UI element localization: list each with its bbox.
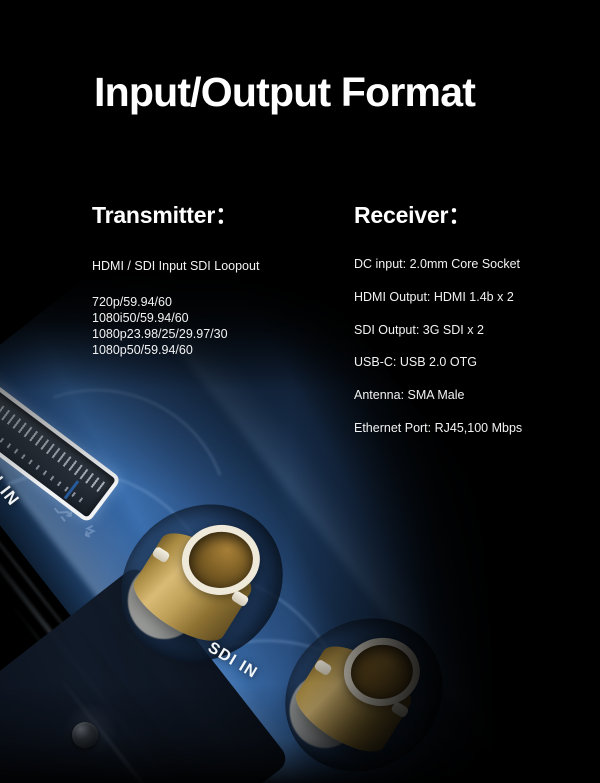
list-item: USB-C: USB 2.0 OTG	[354, 354, 574, 370]
list-item: 720p/59.94/60	[92, 294, 342, 310]
page-title: Input/Output Format	[94, 70, 475, 116]
receiver-spec-list: DC input: 2.0mm Core Socket HDMI Output:…	[354, 256, 574, 436]
list-item: DC input: 2.0mm Core Socket	[354, 256, 574, 272]
transmitter-intro-text: HDMI / SDI Input SDI Loopout	[92, 258, 342, 276]
content-layer: Input/Output Format Transmitter： HDMI / …	[0, 0, 600, 783]
transmitter-column: Transmitter： HDMI / SDI Input SDI Loopou…	[92, 196, 342, 358]
list-item: Ethernet Port: RJ45,100 Mbps	[354, 420, 574, 436]
list-item: 1080p23.98/25/29.97/30	[92, 326, 342, 342]
transmitter-heading: Transmitter：	[92, 196, 342, 230]
list-item: SDI Output: 3G SDI x 2	[354, 322, 574, 338]
transmitter-format-list: 720p/59.94/60 1080i50/59.94/60 1080p23.9…	[92, 294, 342, 358]
list-item: 1080i50/59.94/60	[92, 310, 342, 326]
receiver-heading: Receiver：	[354, 196, 574, 230]
list-item: Antenna: SMA Male	[354, 387, 574, 403]
list-item: 1080p50/59.94/60	[92, 342, 342, 358]
receiver-column: Receiver： DC input: 2.0mm Core Socket HD…	[354, 196, 574, 436]
list-item: HDMI Output: HDMI 1.4b x 2	[354, 289, 574, 305]
